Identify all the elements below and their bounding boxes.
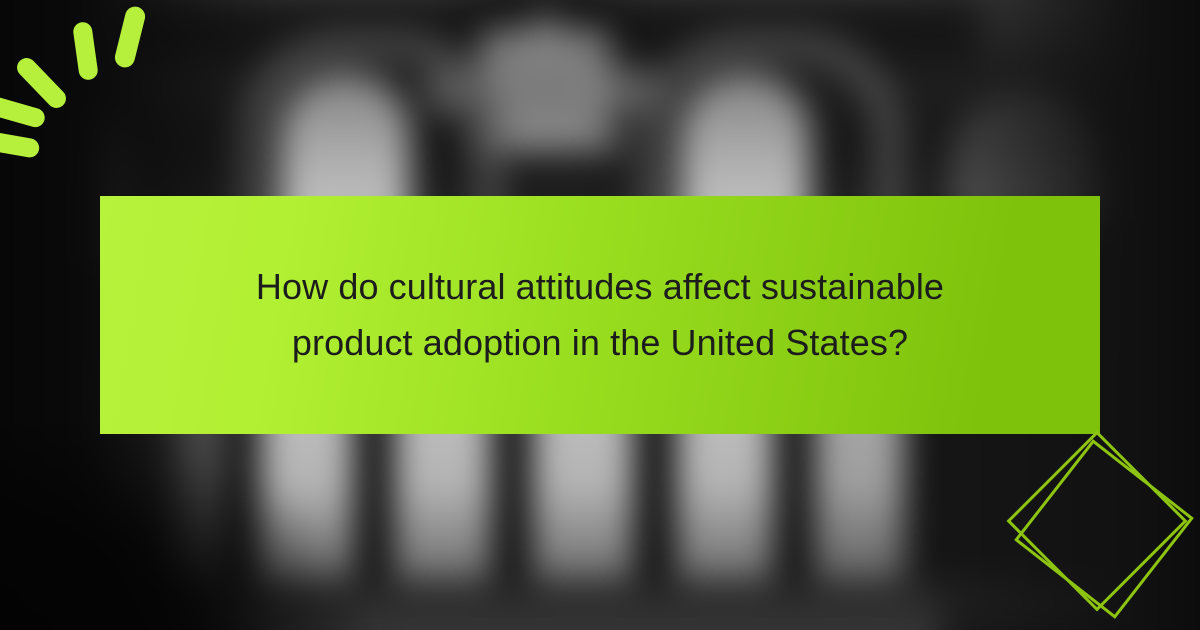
starburst-ray-2 (72, 21, 99, 81)
bg-vignette-bottom-left (0, 430, 360, 630)
starburst-ray-1 (113, 5, 147, 70)
starburst-icon (0, 0, 190, 160)
rotated-square-2 (1014, 439, 1194, 619)
page-title: How do cultural attitudes affect sustain… (220, 259, 980, 371)
rotated-squares-icon (990, 415, 1200, 630)
starburst-ray-5 (0, 129, 41, 159)
share-card: How do cultural attitudes affect sustain… (0, 0, 1200, 630)
starburst-ray-4 (0, 95, 47, 130)
headline-banner: How do cultural attitudes affect sustain… (100, 196, 1100, 434)
